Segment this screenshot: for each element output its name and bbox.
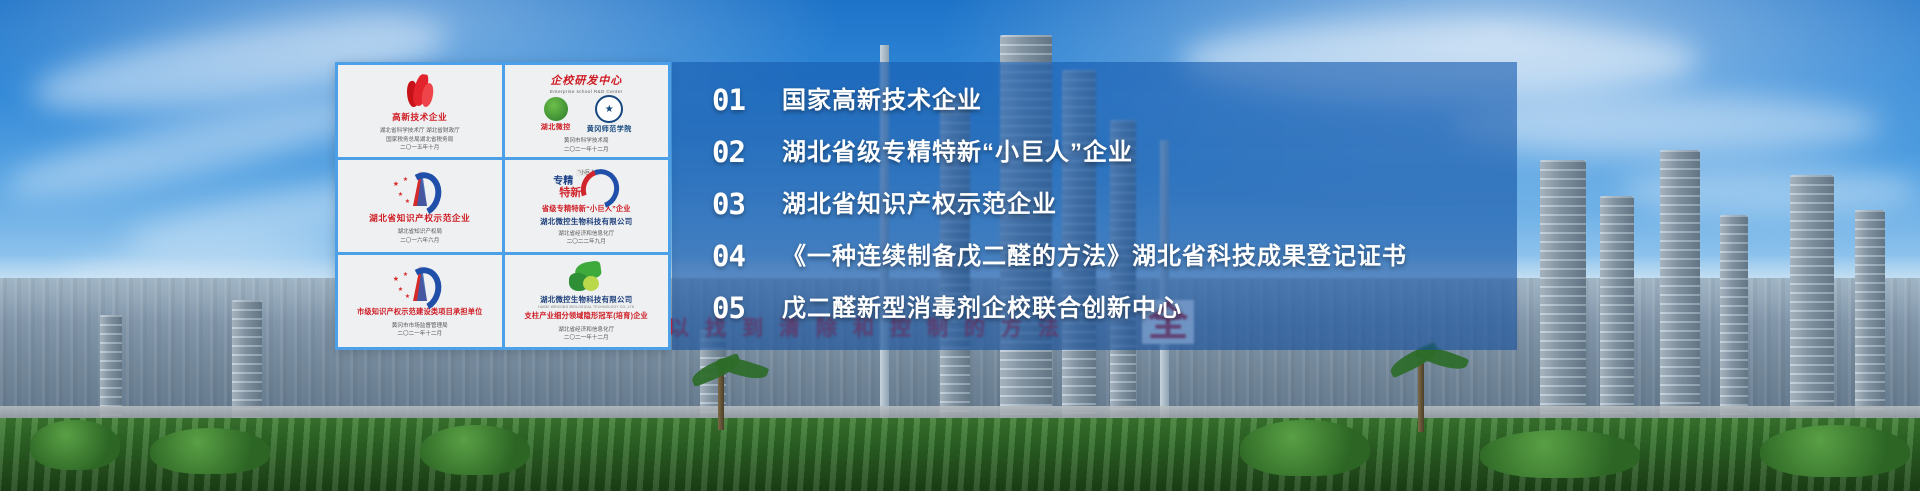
certificate-grid: 高新技术企业 湖北省科学技术厅 湖北省财政厅 国家税务总局湖北省税务局 二〇一五… [335, 62, 671, 350]
certificate-card[interactable]: 湖北微控生物科技有限公司 HUBEI WEIKONG BIOLOGICAL TE… [505, 255, 669, 347]
certificate-issuer: 黄冈市市场监督管理局 二〇二一年十二月 [392, 322, 448, 339]
distillation-tower [232, 300, 262, 418]
university-seal-icon: ★ [595, 95, 623, 123]
partner-badges: 湖北微控 ★ 黄冈师范学院 [541, 95, 632, 134]
highlight-number: 02 [712, 138, 758, 167]
highlight-row[interactable]: 03 湖北省知识产权示范企业 [712, 190, 1057, 219]
certificate-card[interactable]: “小巨人” 专精 特新 省级专精特新“小巨人”企业 湖北微控生物科技有限公司 湖… [505, 160, 669, 252]
certificate-card[interactable]: 高新技术企业 湖北省科学技术厅 湖北省财政厅 国家税务总局湖北省税务局 二〇一五… [338, 65, 502, 157]
distillation-tower [1600, 196, 1634, 420]
ip-star-p-icon: ★ ★ ★ ★ [393, 262, 447, 306]
badge-right-label: 黄冈师范学院 [587, 124, 632, 134]
shrub [1240, 420, 1370, 476]
banner-stage: 全部都可以找到清除和控制的方法 全 高新技术企业 湖北省科学技术厅 湖北省财政厅… [0, 0, 1920, 491]
highlight-text: 国家高新技术企业 [782, 89, 982, 113]
certificate-issuer: 湖北省经济和信息化厅 二〇二二年九月 [558, 230, 614, 247]
certificate-issuer: 黄冈市科学技术局 二〇二一年十二月 [564, 137, 609, 154]
highlight-number: 03 [712, 190, 758, 219]
flame-icon [405, 72, 435, 110]
highlight-row[interactable]: 05 戊二醛新型消毒剂企校联合创新中心 [712, 294, 1182, 323]
shrub [1480, 430, 1640, 478]
badge-left-label: 湖北微控 [541, 122, 571, 132]
certificate-title: 企校研发中心 [550, 72, 622, 88]
certificate-issuer: 湖北省经济和信息化厅 二〇二一年十二月 [558, 326, 614, 343]
palm-trunk [718, 370, 724, 430]
highlight-text: 湖北省级专精特新“小巨人”企业 [782, 141, 1133, 165]
certificate-title: 支柱产业细分领域隐形冠军(培育)企业 [525, 312, 648, 321]
highlight-row[interactable]: 02 湖北省级专精特新“小巨人”企业 [712, 138, 1133, 167]
shrub [420, 425, 530, 475]
distillation-tower [100, 315, 122, 418]
distillation-tower [1855, 210, 1885, 420]
highlight-number: 04 [712, 242, 758, 271]
highlight-number: 01 [712, 86, 758, 115]
distillation-tower [1790, 175, 1834, 420]
highlight-number: 05 [712, 294, 758, 323]
certificate-issuer: 湖北省科学技术厅 湖北省财政厅 国家税务总局湖北省税务局 二〇一五年十月 [380, 127, 460, 153]
certificate-card[interactable]: 企校研发中心 Enterprise school R&D Center 湖北微控… [505, 65, 669, 157]
certificate-title: 省级专精特新“小巨人”企业 [542, 205, 631, 214]
shrub [150, 428, 270, 474]
highlight-text: 湖北省知识产权示范企业 [782, 193, 1057, 217]
ip-star-p-icon: ★ ★ ★ ★ [393, 167, 447, 211]
palm-trunk [1418, 360, 1424, 432]
certificate-issuer: 湖北省知识产权局 二〇一六年六月 [397, 228, 442, 245]
certificate-company-latin: HUBEI WEIKONG BIOLOGICAL TECHNOLOGY CO.,… [538, 305, 634, 309]
distillation-tower [1540, 160, 1586, 420]
distillation-tower [1720, 215, 1748, 420]
certificate-company: 湖北微控生物科技有限公司 [540, 216, 632, 227]
distillation-tower [1660, 150, 1700, 420]
highlights-panel: 01 国家高新技术企业 02 湖北省级专精特新“小巨人”企业 03 湖北省知识产… [672, 62, 1517, 350]
certificate-card[interactable]: ★ ★ ★ ★ 市级知识产权示范建设类项目承担单位 黄冈市市场监督管理局 二〇二… [338, 255, 502, 347]
certificate-card[interactable]: ★ ★ ★ ★ 湖北省知识产权示范企业 湖北省知识产权局 二〇一六年六月 [338, 160, 502, 252]
shrub [1760, 425, 1910, 477]
highlight-text: 戊二醛新型消毒剂企校联合创新中心 [782, 297, 1182, 321]
certificate-title-latin: Enterprise school R&D Center [550, 89, 623, 94]
highlight-row[interactable]: 04 《一种连续制备戊二醛的方法》湖北省科技成果登记证书 [712, 242, 1407, 271]
certificate-title: 高新技术企业 [392, 112, 447, 122]
highlight-row[interactable]: 01 国家高新技术企业 [712, 86, 982, 115]
green-leaf-icon [569, 262, 603, 292]
highlight-text: 《一种连续制备戊二醛的方法》湖北省科技成果登记证书 [782, 245, 1407, 269]
zhuanjing-texin-icon: “小巨人” 专精 特新 [553, 167, 619, 203]
hubei-weikong-logo-icon [544, 97, 568, 121]
shrub [30, 420, 120, 470]
certificate-company: 湖北微控生物科技有限公司 [540, 294, 632, 305]
